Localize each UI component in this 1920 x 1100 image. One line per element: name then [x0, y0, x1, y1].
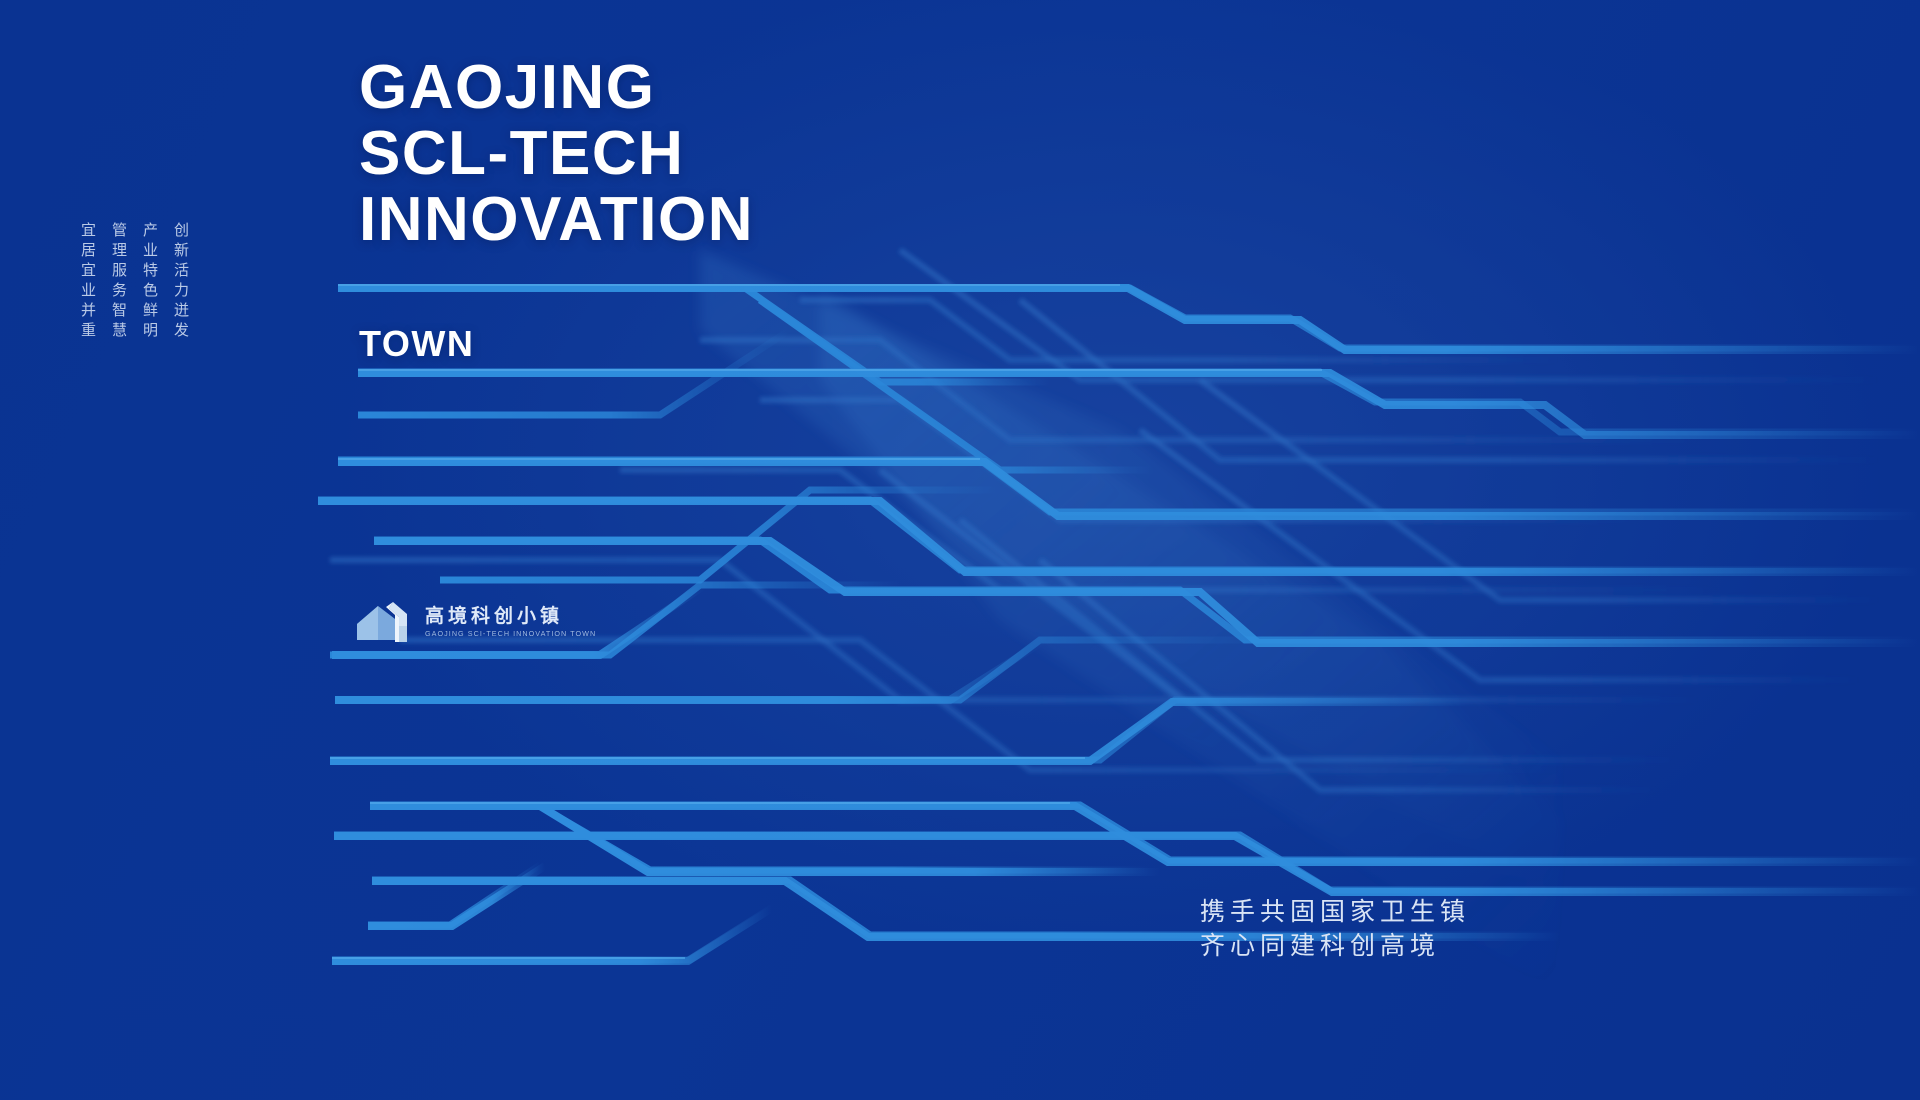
vertical-slogan-col-4: 宜居宜业并重: [78, 222, 97, 342]
vertical-slogan-col-2: 产业特色鲜明: [140, 222, 159, 342]
vertical-slogan-col-1: 创新活力迸发: [171, 222, 190, 342]
circuit-line-artwork: [0, 0, 1920, 1100]
brand-logo: 高境科创小镇 GAOJING SCI-TECH INNOVATION TOWN: [355, 600, 596, 644]
house-building-icon: [355, 600, 415, 644]
poster-canvas: 创新活力迸发 产业特色鲜明 管理服务智慧 宜居宜业并重 GAOJING SCL-…: [0, 0, 1920, 1100]
vertical-slogan: 创新活力迸发 产业特色鲜明 管理服务智慧 宜居宜业并重: [78, 222, 190, 342]
vertical-slogan-col-3: 管理服务智慧: [109, 222, 128, 342]
logo-text-block: 高境科创小镇 GAOJING SCI-TECH INNOVATION TOWN: [425, 606, 596, 638]
bottom-slogan: 携手共固国家卫生镇 齐心同建科创高境: [1200, 895, 1470, 963]
bottom-slogan-line-2: 齐心同建科创高境: [1200, 929, 1470, 963]
headline-town-word: TOWN: [359, 323, 474, 365]
headline-title: GAOJING SCL-TECH INNOVATION: [359, 55, 754, 253]
logo-name-cn: 高境科创小镇: [425, 606, 596, 627]
bottom-slogan-line-1: 携手共固国家卫生镇: [1200, 895, 1470, 929]
logo-name-en: GAOJING SCI-TECH INNOVATION TOWN: [425, 629, 596, 638]
